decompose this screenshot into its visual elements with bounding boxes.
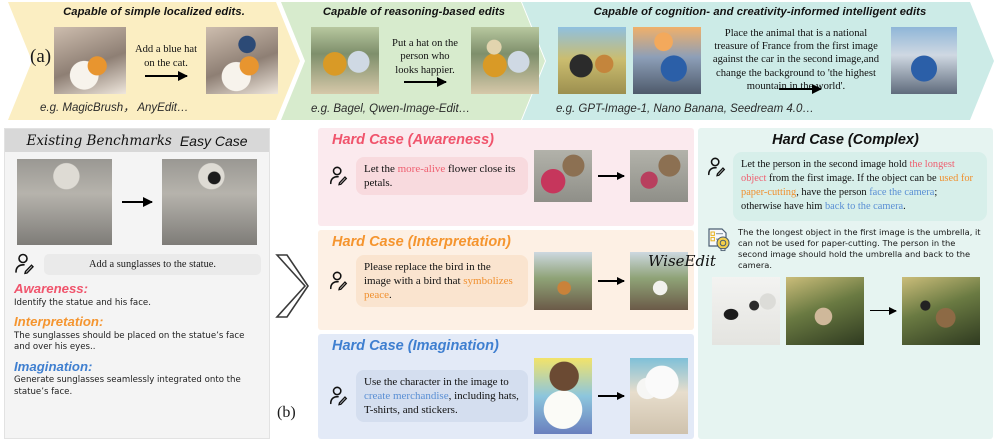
subfigure-label-a: (a) bbox=[30, 46, 51, 68]
aspect-interpretation: Interpretation: The sunglasses should be… bbox=[14, 313, 260, 354]
arrow-icon bbox=[598, 395, 624, 397]
thumb-flowers-before bbox=[534, 150, 592, 202]
complex-prompt-row: Let the person in the second image hold … bbox=[706, 152, 987, 221]
easy-case-label: Easy Case bbox=[180, 133, 248, 149]
wiseedit-logo: WiseEdit bbox=[648, 252, 716, 270]
thumb-cat-before bbox=[54, 27, 126, 94]
banner-reasoning-based-edits: Capable of reasoning-based edits Put a h… bbox=[281, 2, 545, 120]
banner-cognition-creativity-edits: Capable of cognition- and creativity-inf… bbox=[522, 2, 994, 120]
banner-simple-localized-edits: Capable of simple localized edits. Add a… bbox=[8, 2, 300, 120]
banner-title: Capable of reasoning-based edits bbox=[289, 6, 539, 18]
aspect-imagination: Imagination: Generate sunglasses seamles… bbox=[14, 358, 260, 399]
thumb-anime-character bbox=[534, 358, 592, 434]
aspect-awareness-heading: Awareness: bbox=[14, 280, 260, 298]
banner-footer: e.g. MagicBrush， AnyEdit… bbox=[40, 99, 189, 115]
hard-case-awareness-prompt: Let the more-alive flower close its peta… bbox=[356, 157, 528, 195]
hard-case-awareness-row: Let the more-alive flower close its peta… bbox=[328, 150, 694, 202]
banner-title: Capable of cognition- and creativity-inf… bbox=[540, 6, 980, 18]
thumb-robin-before bbox=[534, 252, 592, 310]
hard-case-imagination-panel: Hard Case (Imagination) Use the characte… bbox=[318, 334, 694, 439]
thumb-cat-after bbox=[206, 27, 278, 94]
complex-reasoning-row: The the longest object in the first imag… bbox=[706, 227, 985, 271]
banner-instruction: Add a blue hat on the cat. bbox=[133, 43, 199, 76]
thumb-car-mountain-result bbox=[891, 27, 957, 94]
banner-instruction: Put a hat on the person who looks happie… bbox=[386, 37, 464, 83]
hard-case-complex-panel: Hard Case (Complex) Let the person in th… bbox=[698, 128, 993, 439]
hard-case-imagination-title: Hard Case (Imagination) bbox=[332, 338, 694, 354]
document-lightbulb-icon bbox=[706, 227, 732, 253]
hard-case-awareness-panel: Hard Case (Awareness) Let the more-alive… bbox=[318, 128, 694, 226]
thumb-flowers-after bbox=[630, 150, 688, 202]
person-edit-icon bbox=[706, 156, 728, 178]
arrow-icon bbox=[870, 310, 896, 312]
aspect-imagination-heading: Imagination: bbox=[14, 358, 260, 376]
chevron-divider-icon bbox=[274, 252, 310, 320]
complex-reasoning-text: The the longest object in the first imag… bbox=[738, 227, 985, 271]
hard-case-complex-title: Hard Case (Complex) bbox=[698, 132, 993, 148]
arrow-icon bbox=[122, 201, 152, 203]
arrow-icon bbox=[598, 175, 624, 177]
banner-arrow-wrap bbox=[779, 88, 821, 90]
thumb-woman-forest bbox=[786, 277, 864, 345]
prompt-seg-7: back to the camera bbox=[825, 201, 903, 212]
prompt-text-highlight: create merchandise bbox=[364, 390, 449, 402]
hard-case-imagination-prompt: Use the character in the image to create… bbox=[356, 370, 528, 422]
banner-example-row: Add a blue hat on the cat. bbox=[54, 24, 278, 96]
hard-case-interpretation-panel: Hard Case (Interpretation) Please replac… bbox=[318, 230, 694, 330]
left-panel-header: Existing Benchmarks Easy Case bbox=[5, 129, 269, 152]
existing-benchmarks-label: Existing Benchmarks bbox=[26, 133, 171, 149]
thumb-statue-after bbox=[162, 159, 257, 245]
left-panel-images bbox=[5, 159, 269, 245]
thumb-panda-animals bbox=[558, 27, 626, 94]
thumb-statue-before bbox=[17, 159, 112, 245]
banner-title: Capable of simple localized edits. bbox=[8, 6, 300, 18]
section-a-capability-banners: Capable of simple localized edits. Add a… bbox=[0, 0, 997, 122]
aspect-awareness-body: Identify the statue and his face. bbox=[14, 298, 260, 309]
hard-case-interpretation-title: Hard Case (Interpretation) bbox=[332, 234, 694, 250]
hard-case-interpretation-prompt: Please replace the bird in the image wit… bbox=[356, 255, 528, 307]
prompt-text-plain-2: . bbox=[389, 289, 392, 301]
thumb-women-after bbox=[471, 27, 539, 94]
banner-instruction: Place the animal that is a national trea… bbox=[708, 27, 884, 93]
aspect-imagination-body: Generate sunglasses seamlessly integrate… bbox=[14, 375, 260, 398]
thumb-women-before bbox=[311, 27, 379, 94]
prompt-seg-4: , have the person bbox=[796, 187, 869, 198]
banner-example-row: Put a hat on the person who looks happie… bbox=[311, 24, 539, 96]
prompt-text-plain: Let the bbox=[364, 163, 398, 175]
prompt-seg-5: face the camera bbox=[869, 187, 934, 198]
arrow-icon bbox=[145, 75, 187, 77]
thumb-merchandise bbox=[630, 358, 688, 434]
existing-benchmarks-panel: Existing Benchmarks Easy Case Add a sung… bbox=[4, 128, 270, 439]
banner-example-row: Place the animal that is a national trea… bbox=[558, 24, 957, 96]
aspect-interpretation-body: The sunglasses should be placed on the s… bbox=[14, 331, 260, 354]
thumb-woman-back-umbrella bbox=[902, 277, 980, 345]
prompt-seg-2: from the first image. If the object can … bbox=[766, 173, 939, 184]
aspect-awareness: Awareness: Identify the statue and his f… bbox=[14, 280, 260, 309]
prompt-text-plain: Use the character in the image to bbox=[364, 376, 509, 388]
left-panel-prompt-text: Add a sunglasses to the statue. bbox=[44, 254, 261, 275]
hard-case-imagination-row: Use the character in the image to create… bbox=[328, 358, 694, 434]
prompt-seg-0: Let the person in the second image hold bbox=[741, 159, 910, 170]
banner-footer: e.g. GPT-Image-1, Nano Banana, Seedream … bbox=[556, 103, 814, 115]
banner-footer: e.g. Bagel, Qwen-Image-Edit… bbox=[311, 103, 470, 115]
person-edit-icon bbox=[328, 165, 350, 187]
person-edit-icon bbox=[328, 385, 350, 407]
arrow-icon bbox=[598, 280, 624, 282]
left-panel-prompt-row: Add a sunglasses to the statue. bbox=[13, 252, 261, 276]
complex-image-row bbox=[698, 277, 993, 345]
arrow-icon bbox=[404, 81, 446, 83]
person-edit-icon bbox=[13, 252, 37, 276]
person-edit-icon bbox=[328, 270, 350, 292]
subfigure-label-b: (b) bbox=[277, 404, 296, 422]
thumb-blue-car bbox=[633, 27, 701, 94]
arrow-icon bbox=[779, 88, 821, 90]
prompt-text-highlight: more-alive bbox=[398, 163, 446, 175]
hard-case-interpretation-row: Please replace the bird in the image wit… bbox=[328, 252, 694, 310]
complex-prompt-text: Let the person in the second image hold … bbox=[733, 152, 987, 221]
hard-case-awareness-title: Hard Case (Awareness) bbox=[332, 132, 694, 148]
section-b-wiseedit-cases: Existing Benchmarks Easy Case Add a sung… bbox=[0, 124, 997, 443]
prompt-seg-8: . bbox=[903, 201, 906, 212]
thumb-umbrella-tools bbox=[712, 277, 780, 345]
aspect-interpretation-heading: Interpretation: bbox=[14, 313, 260, 331]
